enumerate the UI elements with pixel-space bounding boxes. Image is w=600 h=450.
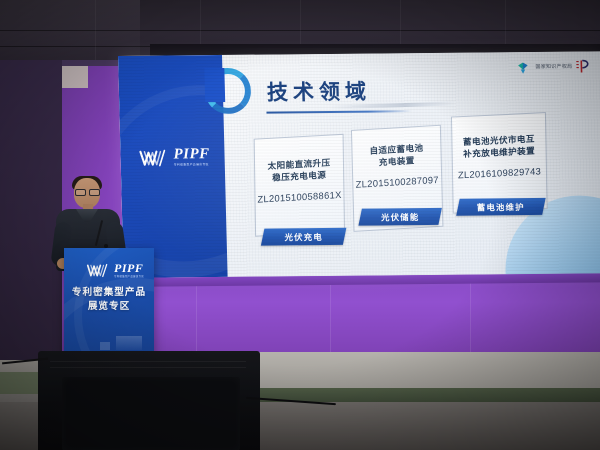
patent-number: ZL201510058861X (255, 189, 343, 205)
podium-reflection (116, 336, 142, 350)
photo-scene: PIPF 专利密集型产品展览专区 国家知识产权局 (0, 0, 600, 450)
patent-number: ZL2015100287097 (353, 174, 441, 190)
patent-category-badge[interactable]: 光伏储能 (358, 208, 442, 226)
patent-category-badge-label: 蓄电池维护 (477, 201, 525, 213)
patent-card[interactable]: 太阳能直流升压 稳压充电电源 ZL201510058861X (254, 134, 345, 237)
monitor-back-panel (62, 377, 240, 450)
podium: PIPF 专利密集型产品展览专区 专利密集型产品 展览专区 (64, 248, 154, 360)
confidence-monitor (38, 351, 260, 450)
slide-title: 技术领域 (267, 76, 372, 107)
podium-logo-text: PIPF (114, 262, 143, 274)
pipf-logo-text: PIPF (173, 147, 210, 162)
teal-leaf-logo-icon (517, 61, 528, 73)
podium-sign-line1: 专利密集型产品 (64, 286, 154, 300)
patent-category-badge-label: 光伏储能 (381, 211, 420, 223)
podium-reflection-2 (100, 342, 110, 350)
podium-sign-text: 专利密集型产品 展览专区 (64, 286, 154, 315)
patent-category-badge[interactable]: 蓄电池维护 (456, 198, 546, 216)
pipf-logo-subtitle: 专利密集型产品展览专区 (174, 164, 214, 167)
podium-sign-line2: 展览专区 (64, 300, 154, 314)
patent-category-badge-label: 光伏充电 (284, 231, 323, 243)
led-screen: PIPF 专利密集型产品展览专区 国家知识产权局 (118, 51, 600, 286)
pipf-wave-mark-icon (86, 263, 110, 278)
podium-logo-subtitle: 专利密集型产品展览专区 (114, 276, 146, 278)
glasses-icon (75, 189, 99, 194)
slide: PIPF 专利密集型产品展览专区 国家知识产权局 (118, 51, 600, 278)
pipf-logo: PIPF 专利密集型产品展览专区 (138, 147, 210, 167)
patent-number: ZL2016109829743 (453, 165, 546, 180)
pipf-wave-mark-icon (138, 148, 168, 167)
patent-category-badge[interactable]: 光伏充电 (261, 228, 347, 246)
red-p-emblem-icon (574, 59, 590, 73)
slide-brand-logos: 国家知识产权局 (517, 59, 591, 74)
leaf-logo-label: 国家知识产权局 (535, 63, 572, 70)
podium-pipf-logo: PIPF 专利密集型产品展览专区 (86, 262, 143, 278)
backdrop-corner-chip (62, 66, 88, 88)
